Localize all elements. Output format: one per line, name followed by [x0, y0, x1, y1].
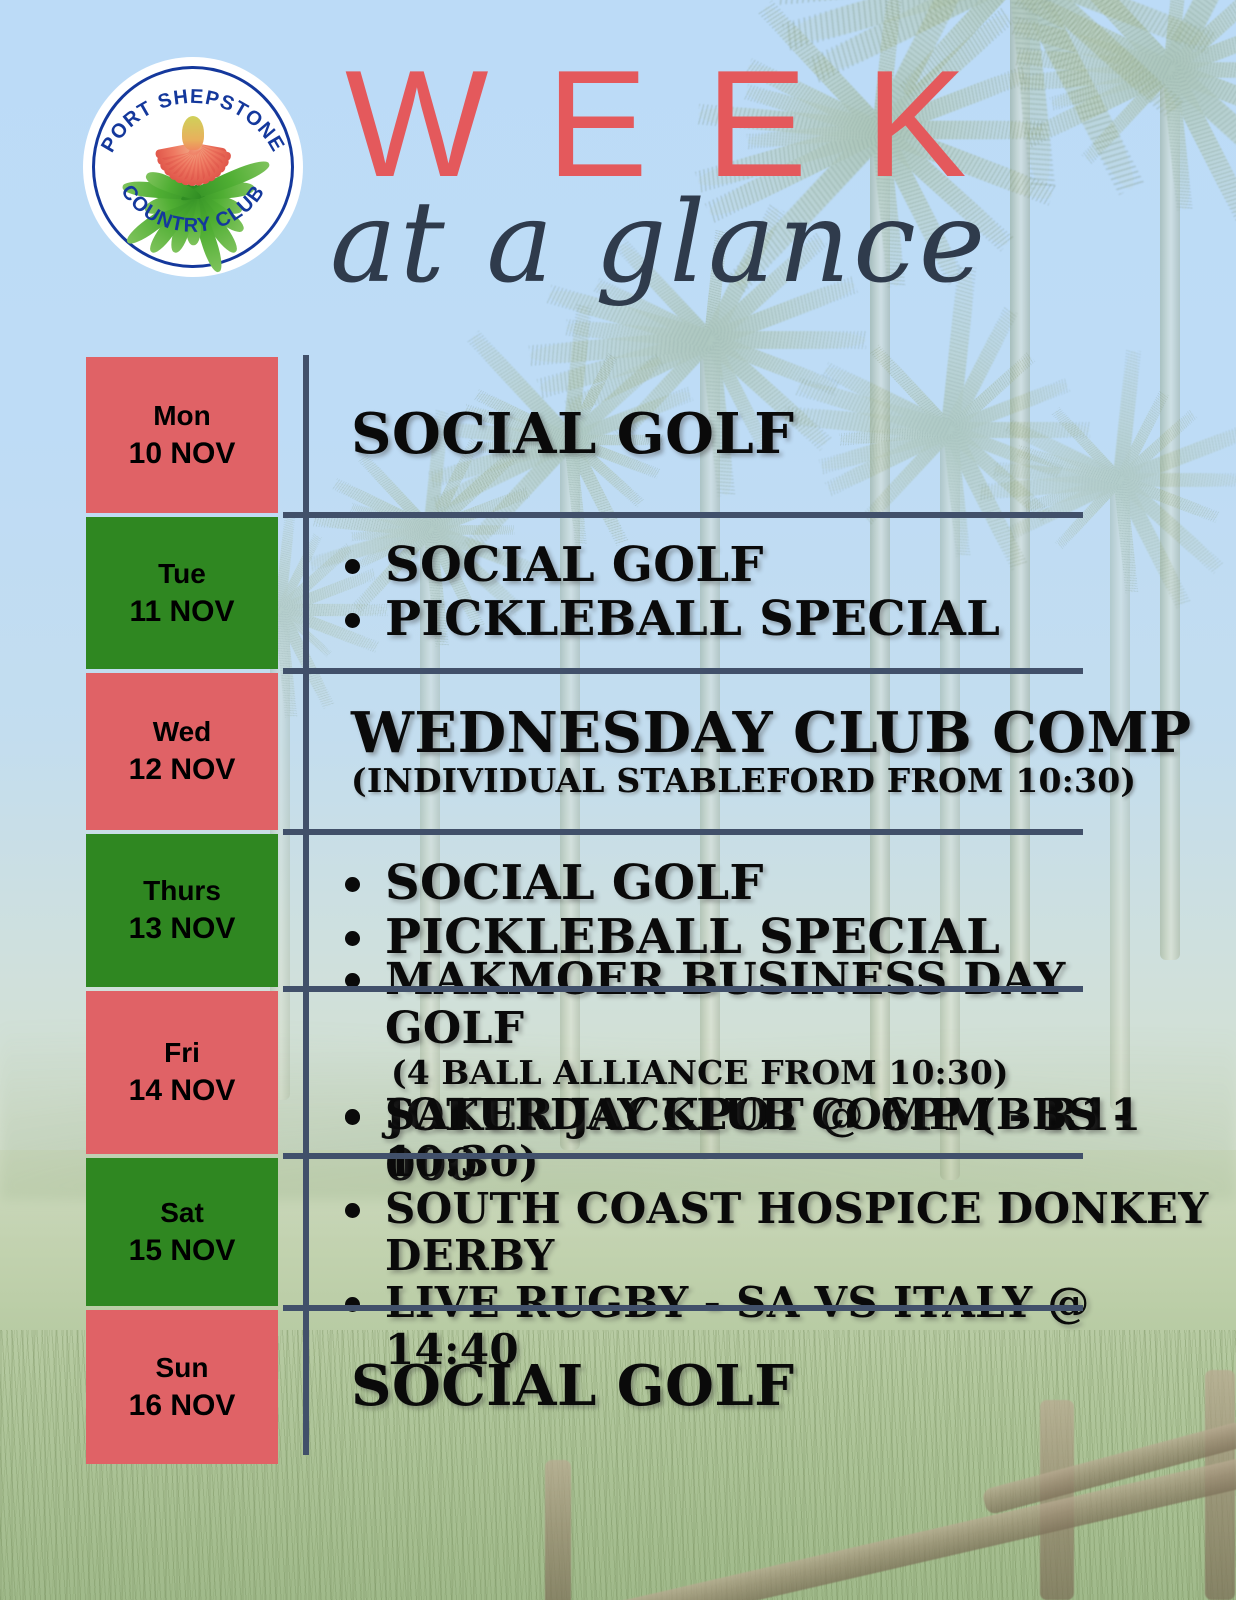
- row-divider: [283, 1153, 1083, 1159]
- row-divider: [283, 668, 1083, 674]
- event-title: SOCIAL GOLF: [385, 537, 764, 593]
- day-chip-sat[interactable]: Sat15 NOV: [86, 1158, 278, 1306]
- event-title: SOCIAL GOLF: [337, 1357, 1216, 1416]
- schedule-row: Sat15 NOVSATURDAY CLUB COMP (BBS - 10:30…: [0, 1156, 1236, 1308]
- day-date: 10 NOV: [129, 439, 236, 469]
- day-cell: Thurs13 NOV: [0, 832, 303, 989]
- schedule-row: Sun16 NOVSOCIAL GOLF: [0, 1308, 1236, 1466]
- logo-arc-text: PORT SHEPSTONE COUNTRY CLUB: [86, 60, 300, 274]
- day-chip-mon[interactable]: Mon10 NOV: [86, 357, 278, 513]
- week-at-a-glance-poster: PORT SHEPSTONE COUNTRY CLUB WEEK at a gl…: [0, 0, 1236, 1600]
- events-cell: SOCIAL GOLF: [303, 355, 1236, 515]
- event-subtitle: (4 BALL ALLIANCE FROM 10:30): [391, 1055, 1216, 1092]
- club-logo: PORT SHEPSTONE COUNTRY CLUB: [86, 60, 300, 274]
- events-cell: SOCIAL GOLF: [303, 1308, 1236, 1466]
- day-date: 14 NOV: [129, 1076, 236, 1106]
- fence-post: [545, 1460, 571, 1600]
- poster-header: PORT SHEPSTONE COUNTRY CLUB WEEK at a gl…: [0, 0, 1236, 340]
- event-list-item: MAKMOER BUSINESS DAY GOLF(4 BALL ALLIANC…: [337, 955, 1216, 1091]
- schedule-row: Mon10 NOVSOCIAL GOLF: [0, 355, 1236, 515]
- day-chip-thurs[interactable]: Thurs13 NOV: [86, 834, 278, 987]
- day-date: 12 NOV: [129, 755, 236, 785]
- logo-top-arc-label: PORT SHEPSTONE: [97, 86, 289, 156]
- day-chip-wed[interactable]: Wed12 NOV: [86, 673, 278, 830]
- event-title: SOCIAL GOLF: [337, 405, 1216, 464]
- day-name: Sat: [160, 1199, 204, 1227]
- day-chip-tue[interactable]: Tue11 NOV: [86, 517, 278, 669]
- bullet-icon: [345, 931, 360, 946]
- event-list-item: SOUTH COAST HOSPICE DONKEY DERBY: [337, 1185, 1216, 1279]
- day-cell: Sun16 NOV: [0, 1308, 303, 1466]
- bullet-icon: [345, 1203, 360, 1218]
- event-list: SOCIAL GOLFPICKLEBALL SPECIAL: [337, 857, 1216, 965]
- row-divider: [283, 829, 1083, 835]
- event-title: MAKMOER BUSINESS DAY GOLF: [385, 954, 1066, 1054]
- day-name: Thurs: [143, 877, 221, 905]
- event-list: SOCIAL GOLFPICKLEBALL SPECIAL: [337, 539, 1216, 647]
- day-name: Sun: [156, 1354, 209, 1382]
- day-date: 11 NOV: [129, 597, 234, 627]
- page-subtitle-at-a-glance: at a glance: [330, 185, 1070, 310]
- event-title: SOUTH COAST HOSPICE DONKEY DERBY: [385, 1184, 1209, 1280]
- fence-rail: [605, 1456, 1236, 1600]
- event-title: SOCIAL GOLF: [385, 855, 764, 911]
- events-cell: SATURDAY CLUB COMP (BBS - 10:30)SOUTH CO…: [303, 1156, 1236, 1308]
- day-name: Tue: [158, 560, 206, 588]
- event-subtitle: (INDIVIDUAL STABLEFORD FROM 10:30): [337, 763, 1216, 799]
- bullet-icon: [345, 1109, 360, 1124]
- logo-bottom-arc-label: COUNTRY CLUB: [116, 181, 269, 237]
- day-date: 13 NOV: [129, 914, 236, 944]
- schedule-row: Wed12 NOVWEDNESDAY CLUB COMP(INDIVIDUAL …: [0, 671, 1236, 832]
- day-chip-sun[interactable]: Sun16 NOV: [86, 1310, 278, 1464]
- events-cell: SOCIAL GOLFPICKLEBALL SPECIAL: [303, 515, 1236, 671]
- day-name: Fri: [164, 1039, 200, 1067]
- events-cell: WEDNESDAY CLUB COMP(INDIVIDUAL STABLEFOR…: [303, 671, 1236, 832]
- bullet-icon: [345, 613, 360, 628]
- row-divider: [283, 986, 1083, 992]
- day-cell: Mon10 NOV: [0, 355, 303, 515]
- day-date: 15 NOV: [129, 1236, 236, 1266]
- weekly-schedule-table: Mon10 NOVSOCIAL GOLFTue11 NOVSOCIAL GOLF…: [0, 355, 1236, 1466]
- event-list-item: SATURDAY CLUB COMP (BBS - 10:30): [337, 1091, 1216, 1185]
- day-name: Wed: [153, 718, 212, 746]
- day-date: 16 NOV: [129, 1391, 236, 1421]
- bullet-icon: [345, 559, 360, 574]
- event-list-item: SOCIAL GOLF: [337, 539, 1216, 593]
- row-divider: [283, 1305, 1083, 1311]
- day-cell: Sat15 NOV: [0, 1156, 303, 1308]
- schedule-row: Tue11 NOVSOCIAL GOLFPICKLEBALL SPECIAL: [0, 515, 1236, 671]
- event-title: SATURDAY CLUB COMP (BBS - 10:30): [385, 1090, 1131, 1186]
- event-list-item: PICKLEBALL SPECIAL: [337, 593, 1216, 647]
- day-cell: Wed12 NOV: [0, 671, 303, 832]
- row-divider: [283, 512, 1083, 518]
- event-list-item: SOCIAL GOLF: [337, 857, 1216, 911]
- day-name: Mon: [153, 402, 211, 430]
- day-chip-fri[interactable]: Fri14 NOV: [86, 991, 278, 1154]
- subtitle-text: at a glance: [330, 178, 988, 308]
- bullet-icon: [345, 877, 360, 892]
- event-title: WEDNESDAY CLUB COMP: [337, 704, 1216, 763]
- event-title: PICKLEBALL SPECIAL: [385, 591, 1000, 647]
- day-cell: Fri14 NOV: [0, 989, 303, 1156]
- day-cell: Tue11 NOV: [0, 515, 303, 671]
